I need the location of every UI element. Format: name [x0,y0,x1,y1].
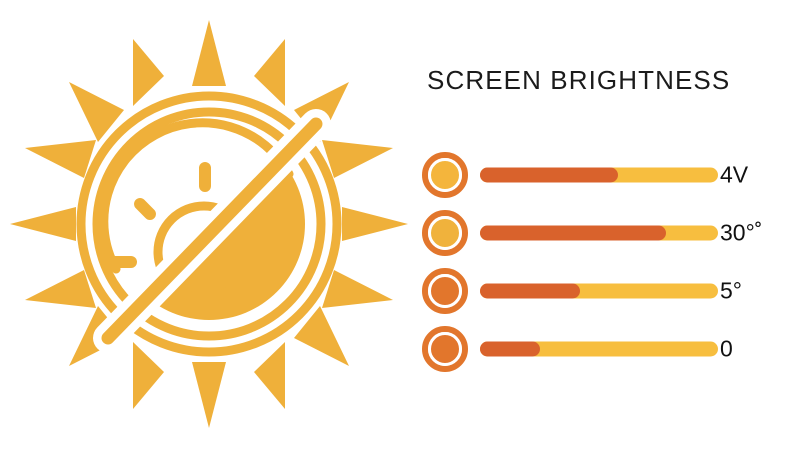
slider-knob-2[interactable] [422,210,468,256]
slider-knob-core-3 [428,274,462,308]
page-title: SCREEN BRIGHTNESS [427,65,730,96]
brightness-slider-list: 4V 30°˚ 5° [422,146,782,378]
slider-value-1: 4V [720,162,782,189]
slider-knob-core-4 [428,332,462,366]
brightness-slider-row-2[interactable]: 30°˚ [422,204,782,262]
brightness-slider-row-3[interactable]: 5° [422,262,782,320]
slider-fill-1 [480,168,618,183]
slider-track-2[interactable] [480,226,718,241]
slider-value-4: 0 [720,336,782,363]
slider-knob-core-2 [428,216,462,250]
brightness-slider-row-4[interactable]: 0 [422,320,782,378]
slider-knob-1[interactable] [422,152,468,198]
slider-fill-3 [480,284,580,299]
slider-track-3[interactable] [480,284,718,299]
slider-knob-core-1 [428,158,462,192]
slider-knob-3[interactable] [422,268,468,314]
sun-brightness-disabled-icon [4,14,414,434]
slider-track-1[interactable] [480,168,718,183]
screen-brightness-graphic: SCREEN BRIGHTNESS 4V 30°˚ [0,0,800,450]
slider-value-3: 5° [720,278,782,305]
slider-track-4[interactable] [480,342,718,357]
slider-fill-2 [480,226,666,241]
brightness-slider-row-1[interactable]: 4V [422,146,782,204]
slider-knob-4[interactable] [422,326,468,372]
slider-value-2: 30°˚ [720,220,782,247]
slider-fill-4 [480,342,540,357]
